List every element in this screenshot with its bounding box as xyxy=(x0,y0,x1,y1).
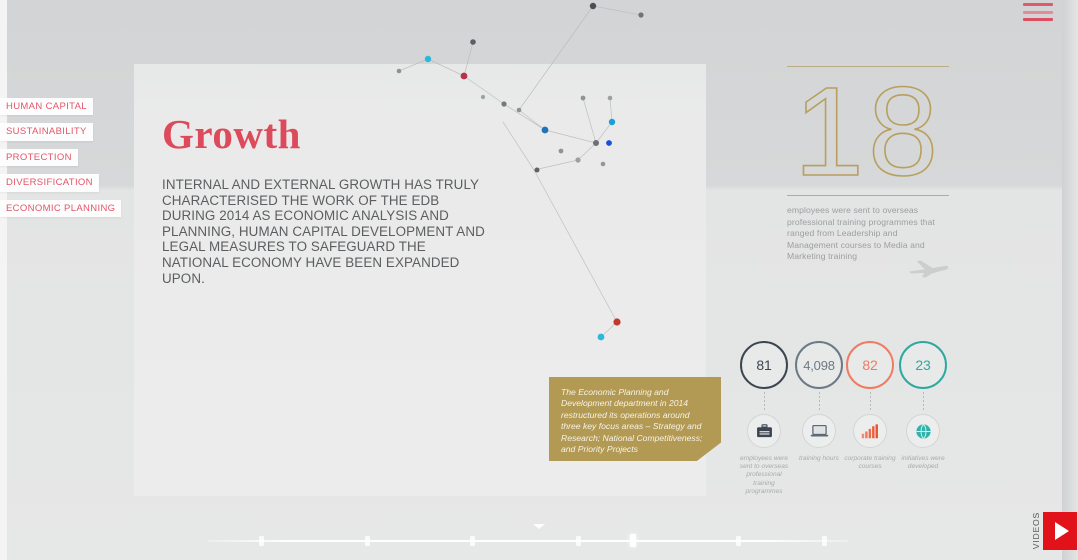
sidebar-item-diversification[interactable]: DIVERSIFICATION xyxy=(0,174,99,191)
stat-column-training-hours: 4,098 training hours xyxy=(793,341,845,463)
stat-ring: 81 xyxy=(740,341,788,389)
stat-value: 81 xyxy=(756,357,771,373)
timeline-tick[interactable] xyxy=(470,536,475,546)
sidebar-item-economic-planning[interactable]: ECONOMIC PLANNING xyxy=(0,200,121,217)
hamburger-menu-icon[interactable] xyxy=(1023,3,1053,21)
timeline-tick[interactable] xyxy=(576,536,581,546)
connector-line xyxy=(870,392,871,412)
stat-label: corporate training courses xyxy=(844,455,896,471)
connector-line xyxy=(764,392,765,412)
stat-ring: 82 xyxy=(846,341,894,389)
stat-column-initiatives: 23 initiatives were developed xyxy=(897,341,949,471)
stat-column-courses: 82 corporate training courses xyxy=(844,341,896,471)
stat-value: 4,098 xyxy=(803,358,835,373)
sidebar-item-human-capital[interactable]: HUMAN CAPITAL xyxy=(0,98,93,115)
timeline-tick[interactable] xyxy=(259,536,264,546)
stats-row: 81 employees were sent to overseas profe… xyxy=(738,341,950,511)
timeline-tick-active[interactable] xyxy=(630,534,636,547)
sidebar-item-protection[interactable]: PROTECTION xyxy=(0,149,78,166)
page-title: Growth xyxy=(162,110,301,158)
stat-value: 23 xyxy=(915,357,930,373)
timeline-track xyxy=(208,540,848,542)
highlight-stat-value: 18 xyxy=(787,71,949,193)
play-icon xyxy=(1055,522,1069,540)
globe-icon xyxy=(906,414,940,448)
right-edge-strip xyxy=(1062,0,1078,560)
timeline-tick[interactable] xyxy=(822,536,827,546)
play-button[interactable] xyxy=(1043,512,1077,550)
stat-ring: 23 xyxy=(899,341,947,389)
stat-ring: 4,098 xyxy=(795,341,843,389)
timeline-tick[interactable] xyxy=(365,536,370,546)
connector-line xyxy=(819,392,820,412)
hamburger-bar xyxy=(1023,11,1053,14)
videos-tab[interactable]: VIDEOS xyxy=(1028,502,1078,560)
stat-label: initiatives were developed xyxy=(897,455,949,471)
sidebar-nav: HUMAN CAPITAL SUSTAINABILITY PROTECTION … xyxy=(0,96,130,223)
hamburger-bar xyxy=(1023,3,1053,6)
airplane-icon xyxy=(907,257,951,279)
body-copy: INTERNAL AND EXTERNAL GROWTH HAS TRULY C… xyxy=(162,177,492,286)
timeline-slider[interactable] xyxy=(208,534,848,548)
briefcase-icon xyxy=(747,414,781,448)
info-tooltip: The Economic Planning and Development de… xyxy=(549,377,721,461)
scroll-down-chevron-icon[interactable] xyxy=(533,524,545,529)
highlight-stat-caption: employees were sent to overseas professi… xyxy=(787,205,949,263)
stat-column-employees: 81 employees were sent to overseas profe… xyxy=(738,341,790,496)
laptop-icon xyxy=(802,414,836,448)
videos-label: VIDEOS xyxy=(1031,512,1041,549)
bar-chart-icon xyxy=(853,414,887,448)
connector-line xyxy=(923,392,924,412)
stat-label: employees were sent to overseas professi… xyxy=(738,455,790,496)
left-edge-strip xyxy=(0,0,7,560)
sidebar-item-sustainability[interactable]: SUSTAINABILITY xyxy=(0,123,93,140)
timeline-tick[interactable] xyxy=(736,536,741,546)
stat-label: training hours xyxy=(793,455,845,463)
highlight-stat-panel: 18 employees were sent to overseas profe… xyxy=(787,66,949,263)
hamburger-bar xyxy=(1023,18,1053,21)
stat-value: 82 xyxy=(862,357,877,373)
